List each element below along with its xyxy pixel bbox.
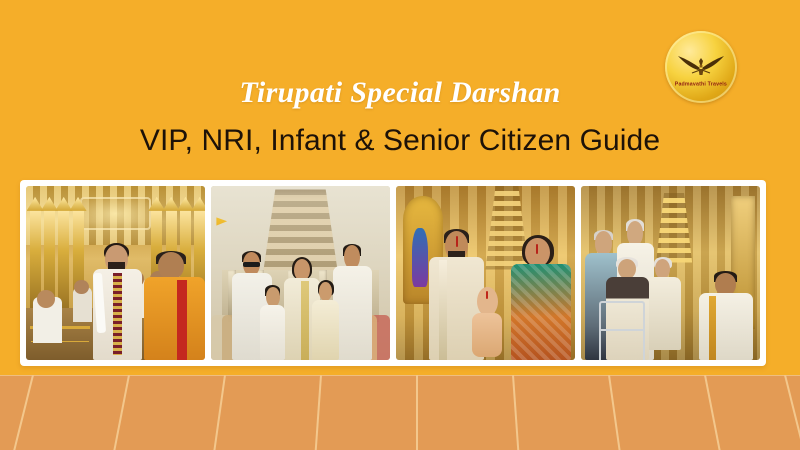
image-gallery-strip bbox=[20, 180, 766, 366]
page-title: Tirupati Special Darshan bbox=[0, 76, 800, 110]
gallery-panel-nri-family[interactable] bbox=[211, 186, 390, 360]
panel-1-image bbox=[26, 186, 205, 360]
gallery-panel-senior-citizen[interactable] bbox=[581, 186, 760, 360]
panel-2-image bbox=[211, 186, 390, 360]
perspective-floor bbox=[0, 375, 800, 450]
gallery-panel-vip-darshan[interactable] bbox=[26, 186, 205, 360]
panel-4-image bbox=[581, 186, 760, 360]
panel-3-image bbox=[396, 186, 575, 360]
walker-frame bbox=[599, 301, 646, 360]
garuda-eagle-emblem-icon bbox=[677, 53, 725, 79]
gallery-panel-infant-ceremony[interactable] bbox=[396, 186, 575, 360]
page-subtitle: VIP, NRI, Infant & Senior Citizen Guide bbox=[0, 124, 800, 158]
poster-stage: Padmavathi Travels Tirupati Special Dars… bbox=[0, 0, 800, 450]
